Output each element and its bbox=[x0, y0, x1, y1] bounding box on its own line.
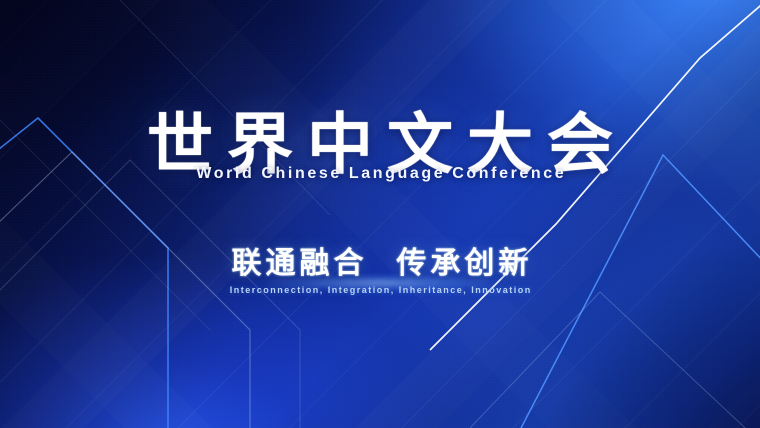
tagline-chinese: 联通融合 传承创新 bbox=[0, 248, 760, 280]
tagline-block: 联通融合 传承创新 Interconnection, Integration, … bbox=[0, 248, 760, 295]
conference-poster: 世界中文大会 World Chinese Language Conference… bbox=[0, 0, 760, 428]
tagline-english: Interconnection, Integration, Inheritanc… bbox=[0, 285, 760, 295]
page-subtitle-english: World Chinese Language Conference bbox=[0, 165, 760, 183]
poster-content: 世界中文大会 World Chinese Language Conference… bbox=[0, 0, 760, 428]
